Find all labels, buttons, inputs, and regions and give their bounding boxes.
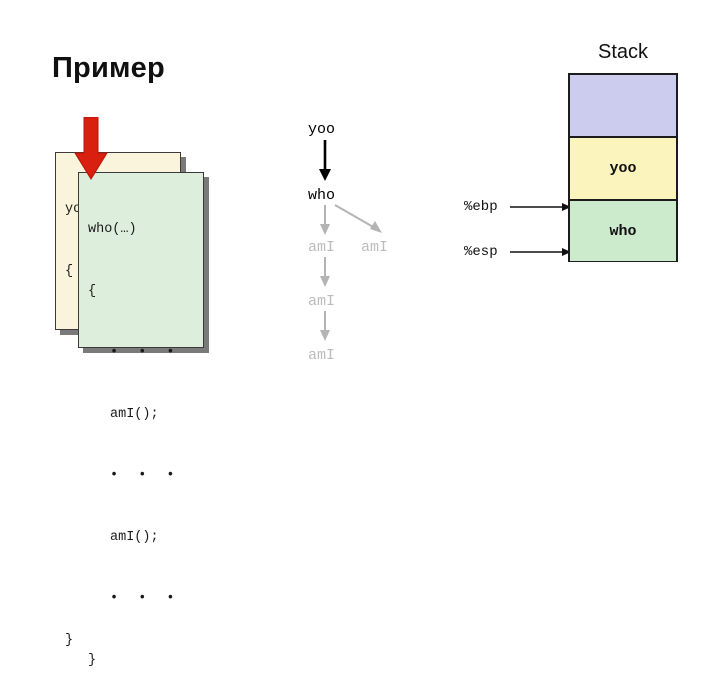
register-label-esp: %esp: [464, 244, 498, 260]
stack-title: Stack: [568, 41, 678, 64]
stack-cell-who: who: [570, 201, 676, 261]
register-label-ebp: %ebp: [464, 199, 498, 215]
code-line: • • •: [88, 343, 195, 364]
call-tree-diagram: yoo who amI amI amI amI: [285, 115, 430, 370]
tree-node-ami-2: amI: [361, 239, 388, 256]
code-line: amI();: [88, 528, 195, 549]
register-arrow-esp: [510, 247, 572, 257]
register-arrow-ebp: [510, 202, 572, 212]
code-line: • • •: [88, 466, 195, 487]
tree-node-ami-1: amI: [308, 239, 335, 256]
tree-node-yoo: yoo: [308, 121, 335, 138]
code-line: • • •: [88, 589, 195, 610]
call-tree-edges: [285, 115, 430, 370]
code-line: {: [88, 282, 195, 303]
code-line: who(…): [88, 220, 195, 241]
code-line: amI();: [88, 405, 195, 426]
stack-cell-empty: [570, 75, 676, 138]
tree-node-ami-4: amI: [308, 347, 335, 364]
code-box-who: who(…) { • • • amI(); • • • amI(); • • •…: [78, 172, 204, 348]
tree-node-ami-3: amI: [308, 293, 335, 310]
stack-cell-yoo: yoo: [570, 138, 676, 201]
code-line: }: [65, 631, 172, 652]
tree-node-who: who: [308, 187, 335, 204]
stack-diagram: yoo who: [568, 73, 678, 262]
page-title: Пример: [52, 52, 165, 85]
code-line: }: [88, 651, 195, 672]
code-line: [65, 569, 172, 590]
red-down-arrow-icon: [74, 117, 108, 181]
